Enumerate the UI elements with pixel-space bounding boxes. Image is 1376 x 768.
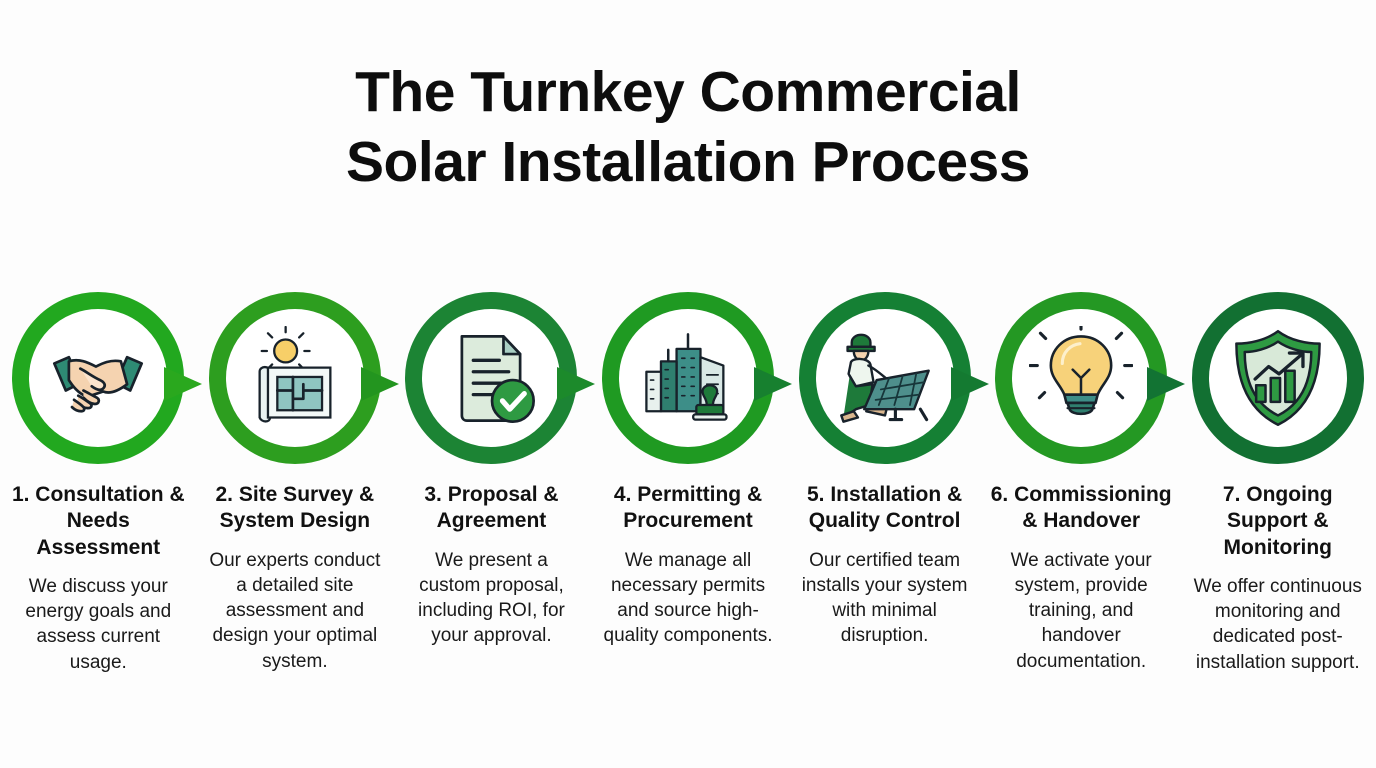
step-circle (405, 292, 577, 464)
step-title: 5. Installation & Quality Control (786, 482, 983, 535)
step-title: 7. Ongoing Support & Monitoring (1179, 482, 1376, 561)
step-circle (1192, 292, 1364, 464)
process-steps: 1. Consultation & Needs Assessment We di… (0, 292, 1376, 675)
step-circle (995, 292, 1167, 464)
step-title: 6. Commissioning & Handover (983, 482, 1180, 535)
infographic-root: The Turnkey Commercial Solar Installatio… (0, 0, 1376, 768)
process-step: 6. Commissioning & Handover We activate … (983, 292, 1180, 674)
step-circle (799, 292, 971, 464)
blueprint-sun-icon (243, 326, 347, 430)
process-step: 2. Site Survey & System Design Our exper… (197, 292, 394, 674)
step-description: We activate your system, provide trainin… (983, 548, 1180, 674)
arrow-connector-icon (949, 364, 991, 404)
arrow-connector-icon (555, 364, 597, 404)
process-step: 3. Proposal & Agreement We present a cus… (393, 292, 590, 649)
arrow-connector-icon (359, 364, 401, 404)
title-line-1: The Turnkey Commercial (0, 58, 1376, 128)
step-description: We offer continuous monitoring and dedic… (1179, 574, 1376, 675)
title-line-2: Solar Installation Process (0, 128, 1376, 198)
document-check-icon (439, 326, 543, 430)
step-title: 4. Permitting & Procurement (590, 482, 787, 535)
step-title: 2. Site Survey & System Design (197, 482, 394, 535)
handshake-icon (46, 326, 150, 430)
process-step: 7. Ongoing Support & Monitoring We offer… (1179, 292, 1376, 675)
process-step: 1. Consultation & Needs Assessment We di… (0, 292, 197, 675)
step-title: 1. Consultation & Needs Assessment (0, 482, 197, 561)
page-title: The Turnkey Commercial Solar Installatio… (0, 58, 1376, 197)
step-title: 3. Proposal & Agreement (393, 482, 590, 535)
arrow-connector-icon (1145, 364, 1187, 404)
step-circle (12, 292, 184, 464)
process-step: 5. Installation & Quality Control Our ce… (786, 292, 983, 649)
lightbulb-icon (1029, 326, 1133, 430)
step-description: We present a custom proposal, including … (393, 548, 590, 649)
shield-growth-icon (1226, 326, 1330, 430)
step-circle (209, 292, 381, 464)
step-description: Our experts conduct a detailed site asse… (197, 548, 394, 674)
arrow-connector-icon (162, 364, 204, 404)
step-circle (602, 292, 774, 464)
city-stamp-icon (636, 326, 740, 430)
step-description: We manage all necessary permits and sour… (590, 548, 787, 649)
step-description: We discuss your energy goals and assess … (0, 574, 197, 675)
arrow-connector-icon (752, 364, 794, 404)
step-description: Our certified team installs your system … (786, 548, 983, 649)
process-step: 4. Permitting & Procurement We manage al… (590, 292, 787, 649)
solar-installer-icon (833, 326, 937, 430)
